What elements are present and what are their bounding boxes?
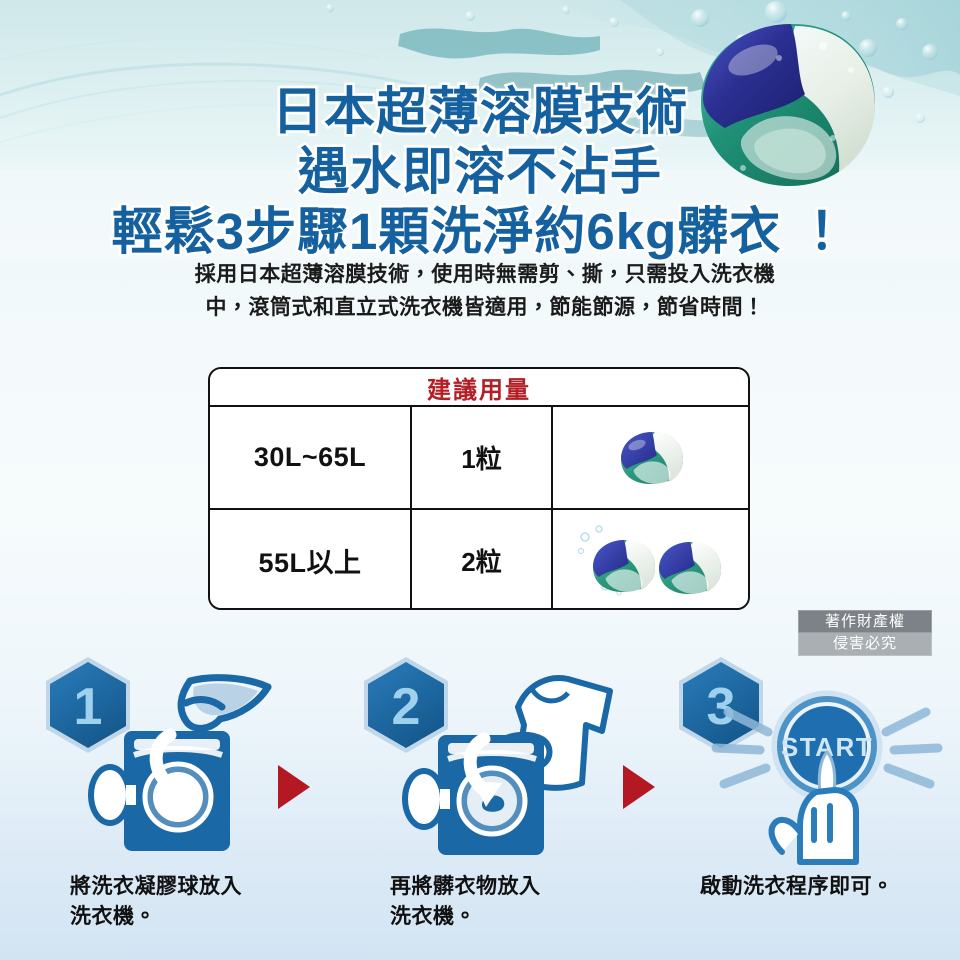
hand-putting-shirt-into-washer-icon — [400, 673, 615, 868]
dosage-table-header: 建議用量 — [210, 369, 748, 407]
step-1-caption-line-1: 將洗衣凝膠球放入 — [70, 872, 242, 902]
step-2-caption-line-2: 洗衣機。 — [390, 902, 541, 932]
table-cell-quantity: 2粒 — [412, 510, 553, 610]
laundry-pod-icon — [615, 429, 687, 487]
body-copy-line-2: 中，滾筒式和直立式洗衣機皆適用，節能節源，節省時間！ — [120, 291, 850, 324]
copyright-badge: 著作財產權 侵害必究 — [798, 610, 932, 656]
copyright-badge-line-2: 侵害必究 — [798, 633, 932, 656]
headline-line-3: 輕鬆3步驟1顆洗淨約6kg髒衣 ！ — [0, 190, 960, 264]
table-cell-quantity: 1粒 — [412, 407, 553, 508]
copyright-badge-line-1: 著作財產權 — [798, 610, 932, 633]
table-cell-volume: 30L~65L — [210, 407, 412, 508]
step-2-caption: 再將髒衣物放入 洗衣機。 — [390, 872, 541, 932]
dosage-table: 建議用量 30L~65L 1粒 — [208, 367, 750, 610]
hand-dropping-pod-into-washer-icon — [82, 673, 282, 868]
step-3-caption-line-1: 啟動洗衣程序即可。 — [700, 872, 894, 902]
step-1-caption-line-2: 洗衣機。 — [70, 902, 242, 932]
table-row: 30L~65L 1粒 — [210, 407, 748, 510]
table-cell-volume: 55L以上 — [210, 510, 412, 610]
infographic-canvas: 日本超薄溶膜技術 遇水即溶不沾手 輕鬆3步驟1顆洗淨約6kg髒衣 ！ 採用日本超… — [0, 0, 960, 960]
step-3-caption: 啟動洗衣程序即可。 — [700, 872, 894, 902]
step-3: 3 START — [655, 655, 945, 890]
table-cell-pod-image — [553, 510, 748, 610]
headline-line-3-text: 輕鬆3步驟1顆洗淨約6kg髒衣 ！ — [112, 203, 849, 260]
step-1-caption: 將洗衣凝膠球放入 洗衣機。 — [70, 872, 242, 932]
dosage-table-header-label: 建議用量 — [427, 370, 531, 405]
body-copy: 採用日本超薄溶膜技術，使用時無需剪、撕，只需投入洗衣機 中，滾筒式和直立式洗衣機… — [120, 258, 850, 324]
step-2-caption-line-1: 再將髒衣物放入 — [390, 872, 541, 902]
laundry-pod-pair-icon — [575, 525, 727, 597]
finger-pressing-start-button-icon: START — [710, 680, 945, 875]
step-1: 1 — [22, 655, 312, 890]
table-row: 55L以上 2粒 — [210, 510, 748, 610]
body-copy-line-1: 採用日本超薄溶膜技術，使用時無需剪、撕，只需投入洗衣機 — [120, 258, 850, 291]
step-2: 2 — [340, 655, 630, 890]
table-cell-pod-image — [553, 407, 748, 508]
